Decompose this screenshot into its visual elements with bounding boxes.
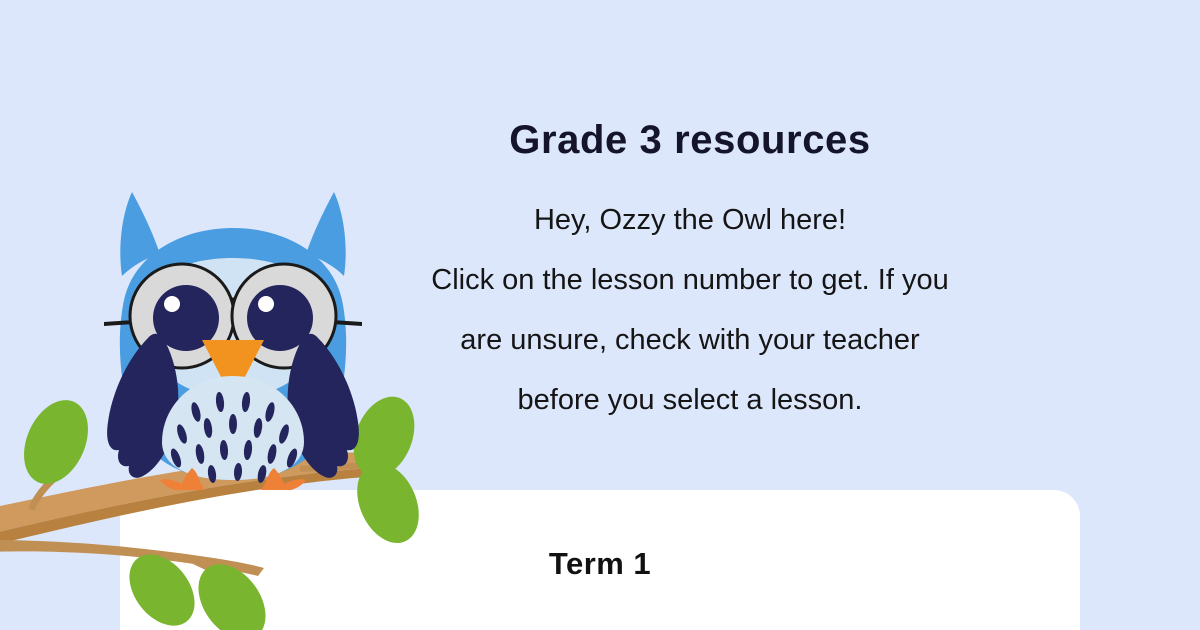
owl-ear-left bbox=[120, 192, 160, 276]
intro-line-4: before you select a lesson. bbox=[380, 386, 1000, 415]
owl-eye-right bbox=[247, 285, 313, 351]
glasses-bridge bbox=[214, 299, 252, 308]
glasses-lens-right bbox=[232, 264, 336, 368]
owl-ear-right bbox=[306, 192, 346, 276]
intro-line-1: Hey, Ozzy the Owl here! bbox=[380, 206, 1000, 235]
leaf-left bbox=[12, 390, 101, 494]
owl-eye-highlight-right bbox=[258, 296, 274, 312]
owl-eye-highlight-left bbox=[164, 296, 180, 312]
owl-foot-left bbox=[160, 468, 208, 490]
intro-line-3: are unsure, check with your teacher bbox=[380, 326, 1000, 355]
owl-belly-speckles bbox=[169, 392, 299, 484]
ozzy-the-owl-illustration bbox=[88, 180, 378, 490]
glasses-lens-left bbox=[130, 264, 234, 368]
glasses-temple-right bbox=[302, 318, 362, 326]
intro-line-2: Click on the lesson number to get. If yo… bbox=[380, 266, 1000, 295]
poster-canvas: Grade 3 resources Hey, Ozzy the Owl here… bbox=[0, 0, 1200, 630]
glasses-temple-left bbox=[104, 318, 164, 326]
owl-body bbox=[120, 228, 346, 480]
owl-wing-left bbox=[107, 334, 178, 478]
leaf-stem-right bbox=[300, 462, 372, 472]
owl-wing-right bbox=[288, 334, 359, 478]
term-card: Term 1 bbox=[120, 490, 1080, 630]
owl-belly bbox=[162, 376, 304, 480]
owl-beak bbox=[202, 340, 264, 400]
owl-foot-right bbox=[258, 468, 306, 490]
owl-eye-left bbox=[153, 285, 219, 351]
page-title: Grade 3 resources bbox=[380, 118, 1000, 162]
owl-face-mask bbox=[141, 258, 324, 414]
leaf-stem-left bbox=[28, 472, 60, 511]
intro-text-block: Grade 3 resources Hey, Ozzy the Owl here… bbox=[380, 118, 1000, 415]
term-card-title: Term 1 bbox=[120, 546, 1080, 582]
